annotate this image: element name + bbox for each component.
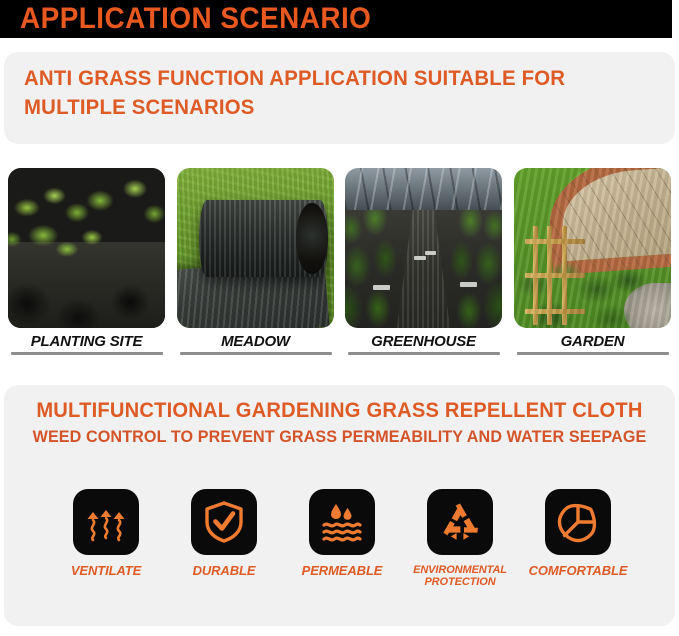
intro-heading: ANTI GRASS FUNCTION APPLICATION SUITABLE… (24, 64, 625, 122)
caption-underline (348, 352, 500, 355)
greenhouse-photo (345, 168, 502, 328)
meadow-photo (177, 168, 334, 328)
feature-comfortable: COMFORTABLE (534, 489, 622, 588)
scenario-card-meadow: MEADOW (177, 168, 334, 355)
icon-box (73, 489, 139, 555)
scenario-caption: MEADOW (177, 333, 334, 350)
feature-label: PERMEABLE (302, 564, 383, 577)
icon-box (191, 489, 257, 555)
feature-durable: DURABLE (180, 489, 268, 588)
caption-underline (11, 352, 163, 355)
leaf-icon (556, 500, 600, 544)
feature-label: VENTILATE (71, 564, 141, 577)
intro-panel: ANTI GRASS FUNCTION APPLICATION SUITABLE… (4, 52, 675, 144)
scenario-grid: PLANTING SITE MEADOW G (0, 168, 679, 364)
scenario-caption: GARDEN (514, 333, 671, 350)
scenario-card-planting-site: PLANTING SITE (8, 168, 165, 355)
icon-box (309, 489, 375, 555)
header-bar: APPLICATION SCENARIO (0, 0, 672, 38)
feature-permeable: PERMEABLE (298, 489, 386, 588)
icon-box (427, 489, 493, 555)
features-title: MULTIFUNCTIONAL GARDENING GRASS REPELLEN… (17, 399, 661, 423)
page-title: APPLICATION SCENARIO (20, 2, 371, 36)
feature-environmental-protection: ENVIRONMENTAL PROTECTION (416, 489, 504, 588)
planting-site-photo (8, 168, 165, 328)
feature-label: COMFORTABLE (529, 564, 628, 577)
water-drops-waves-icon (320, 500, 364, 544)
features-panel: MULTIFUNCTIONAL GARDENING GRASS REPELLEN… (4, 385, 675, 626)
scenario-caption: PLANTING SITE (8, 333, 165, 350)
features-subtitle: WEED CONTROL TO PREVENT GRASS PERMEABILI… (21, 427, 658, 447)
garden-photo (514, 168, 671, 328)
wavy-up-arrows-icon (84, 500, 128, 544)
scenario-card-greenhouse: GREENHOUSE (345, 168, 502, 355)
feature-label: ENVIRONMENTAL PROTECTION (413, 564, 507, 588)
shield-check-icon (203, 500, 245, 544)
caption-underline (517, 352, 669, 355)
caption-underline (180, 352, 332, 355)
feature-label: DURABLE (193, 564, 256, 577)
feature-ventilate: VENTILATE (62, 489, 150, 588)
recycle-icon (438, 500, 482, 544)
scenario-caption: GREENHOUSE (345, 333, 502, 350)
feature-list: VENTILATE DURABLE (62, 489, 622, 588)
icon-box (545, 489, 611, 555)
scenario-card-garden: GARDEN (514, 168, 671, 355)
